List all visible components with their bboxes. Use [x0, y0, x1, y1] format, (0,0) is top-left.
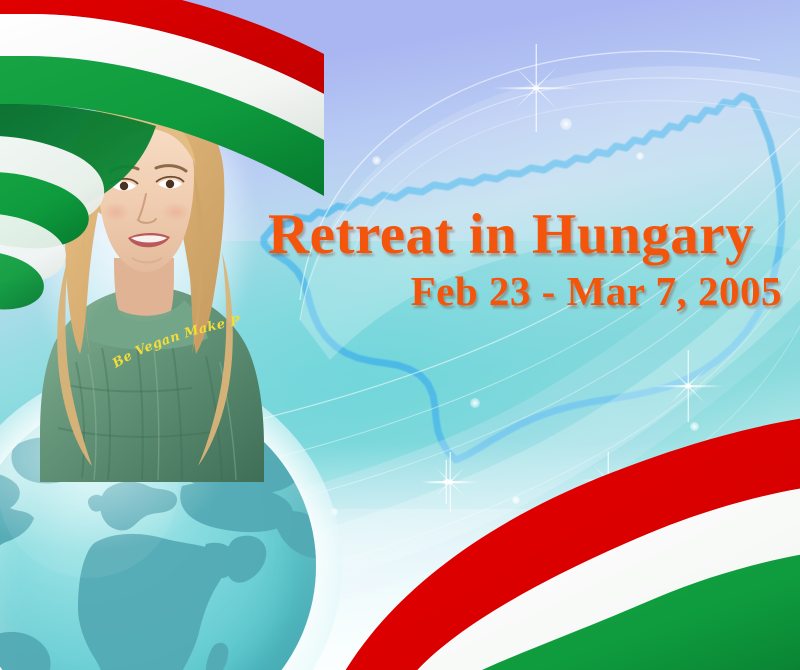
date-range: Feb 23 - Mar 7, 2005: [268, 270, 788, 313]
headline-block: Retreat in Hungary Feb 23 - Mar 7, 2005: [268, 206, 788, 313]
portrait-photo: [6, 62, 274, 482]
poster-canvas: Be Vegan Make Peace: [0, 0, 800, 670]
page-title: Retreat in Hungary: [268, 206, 788, 264]
